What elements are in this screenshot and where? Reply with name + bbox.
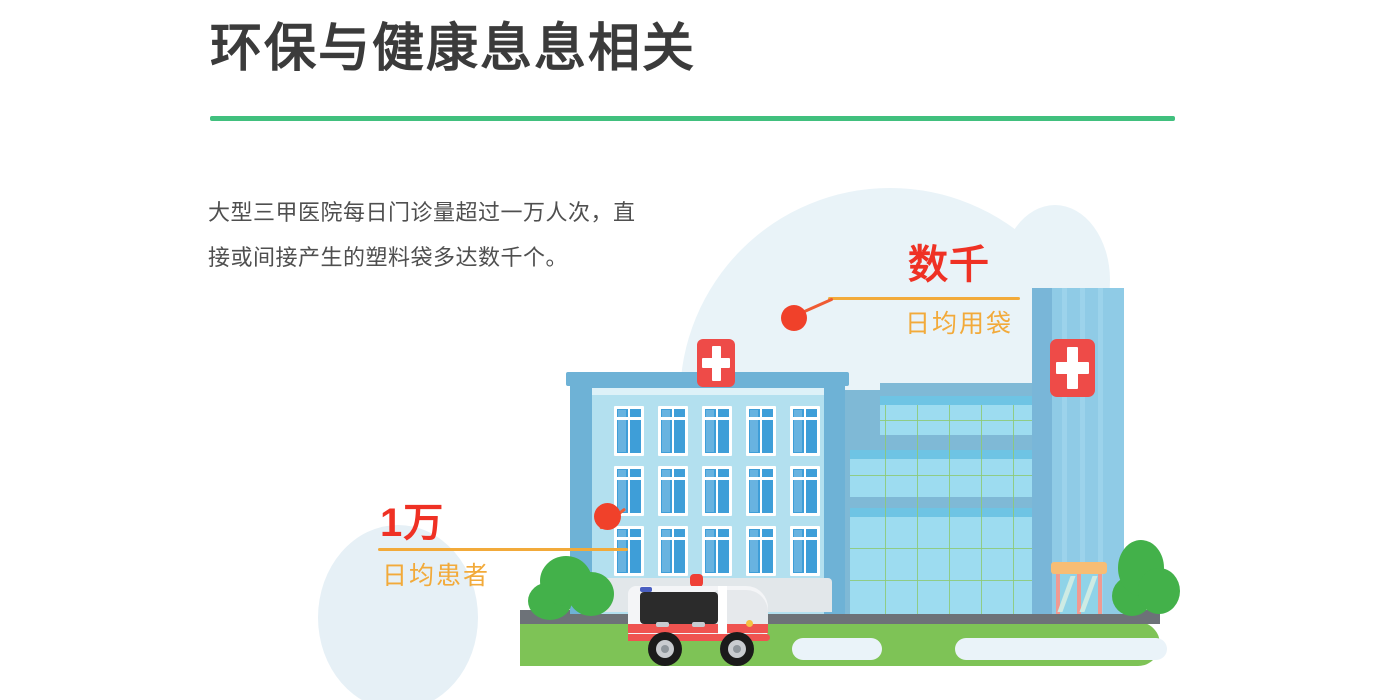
path-segment — [792, 638, 882, 660]
ambulance-hub-center — [733, 645, 741, 653]
mullion-line — [949, 405, 950, 614]
window — [614, 406, 644, 456]
callout-label: 日均患者 — [382, 556, 490, 592]
cross-horizontal — [1056, 362, 1089, 374]
window — [746, 526, 776, 576]
callout-rule — [828, 297, 1020, 300]
tower-shadow-edge — [1032, 288, 1052, 614]
window — [702, 406, 732, 456]
tower-entrance-awning — [1051, 562, 1107, 574]
facade-top-band — [592, 388, 824, 395]
window — [658, 406, 688, 456]
window — [658, 526, 688, 576]
ambulance-white-stripe — [718, 586, 727, 634]
mullion-line — [850, 548, 1035, 549]
mid-rise-glass-block — [845, 390, 1035, 614]
window — [658, 466, 688, 516]
mullion-line — [981, 405, 982, 614]
mullion-line — [885, 405, 886, 614]
window — [746, 466, 776, 516]
mullion-line — [1013, 405, 1014, 614]
bush — [568, 572, 614, 616]
ambulance-hub-center — [661, 645, 669, 653]
window — [746, 406, 776, 456]
window — [702, 526, 732, 576]
slide-canvas: 环保与健康息息相关 大型三甲医院每日门诊量超过一万人次，直接或间接产生的塑料袋多… — [0, 0, 1400, 700]
cross-horizontal — [702, 358, 730, 368]
mullion-line — [850, 475, 1035, 476]
window — [702, 466, 732, 516]
roof-cross-icon — [697, 339, 735, 387]
ambulance-window — [640, 592, 718, 624]
ambulance-door-handle — [692, 622, 705, 627]
ambulance-indicator — [746, 620, 753, 627]
ambulance — [628, 572, 776, 664]
curtain-wall-band — [850, 459, 1035, 497]
curtain-wall-header — [850, 450, 1035, 459]
curtain-wall-band — [850, 517, 1035, 614]
mullion-line — [880, 420, 1035, 421]
curtain-wall-header — [850, 508, 1035, 517]
window — [790, 406, 820, 456]
window — [614, 526, 644, 576]
mullion-line — [917, 405, 918, 614]
callout-label: 日均用袋 — [905, 304, 1013, 340]
bush — [1138, 568, 1180, 614]
curtain-wall-header — [880, 396, 1035, 405]
ambulance-blue-marker — [640, 587, 652, 592]
hospital-illustration — [0, 0, 1400, 700]
ambulance-door-handle — [656, 622, 669, 627]
callout-rule — [378, 548, 628, 551]
window — [790, 466, 820, 516]
callout-value: 1万 — [380, 490, 444, 548]
path-segment — [955, 638, 1167, 660]
callout-marker-dot — [594, 503, 621, 530]
entrance-column — [1098, 574, 1102, 614]
tower-cross-icon — [1050, 339, 1095, 397]
callout-value: 数千 — [908, 232, 990, 290]
mullion-line — [850, 580, 1035, 581]
window — [790, 526, 820, 576]
callout-marker-dot — [781, 305, 807, 331]
